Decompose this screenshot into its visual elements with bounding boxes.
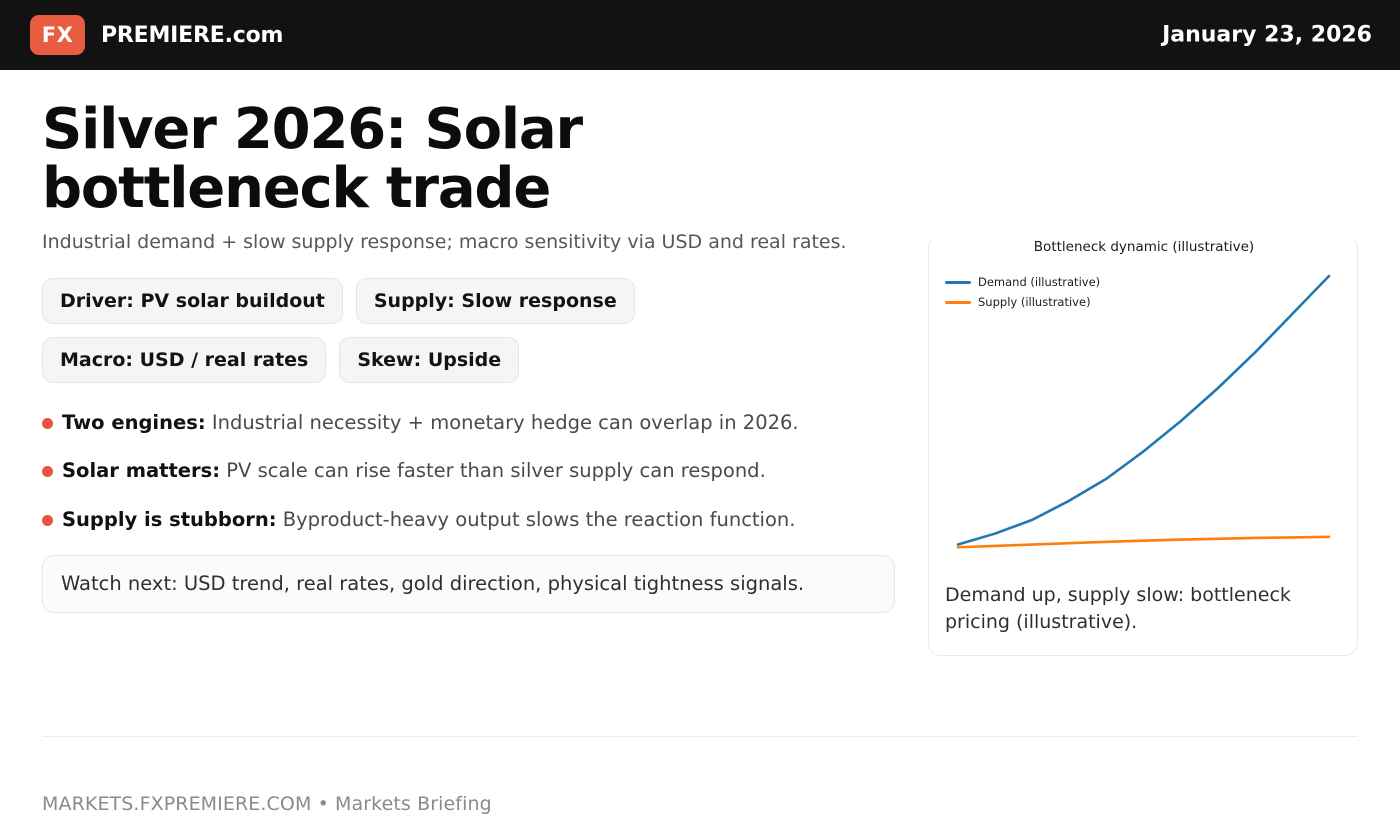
- list-item: Solar matters: PV scale can rise faster …: [42, 457, 902, 485]
- bullet-body-text: PV scale can rise faster than silver sup…: [226, 459, 766, 482]
- key-points-list: Two engines: Industrial necessity + mone…: [42, 409, 902, 534]
- brand-logo[interactable]: FX PREMIERE.com: [30, 15, 283, 55]
- tag-chip-supply[interactable]: Supply: Slow response: [356, 278, 635, 324]
- bullet-body-text: Industrial necessity + monetary hedge ca…: [212, 411, 799, 434]
- bullet-lead-label: Two engines:: [62, 411, 206, 434]
- header-date: January 23, 2026: [1162, 23, 1372, 48]
- bullet-dot-icon: [42, 466, 53, 477]
- page-subtitle: Industrial demand + slow supply response…: [42, 229, 872, 256]
- chart-plot-area: Bottleneck dynamic (illustrative) Demand…: [929, 236, 1358, 566]
- tag-chip-list: Driver: PV solar buildout Supply: Slow r…: [42, 278, 682, 383]
- tag-chip-macro[interactable]: Macro: USD / real rates: [42, 337, 326, 383]
- supply-line-path: [958, 537, 1329, 547]
- bullet-dot-icon: [42, 418, 53, 429]
- bullet-lead-label: Supply is stubborn:: [62, 508, 277, 531]
- tag-chip-driver[interactable]: Driver: PV solar buildout: [42, 278, 343, 324]
- chart-caption: Demand up, supply slow: bottleneck prici…: [929, 566, 1357, 635]
- tag-chip-skew[interactable]: Skew: Upside: [339, 337, 519, 383]
- footer-divider: [42, 736, 1358, 737]
- bullet-text: Solar matters: PV scale can rise faster …: [62, 457, 766, 485]
- page-title: Silver 2026: Solar bottleneck trade: [42, 100, 662, 219]
- bullet-body-text: Byproduct-heavy output slows the reactio…: [283, 508, 796, 531]
- fx-badge-icon: FX: [30, 15, 85, 55]
- footer-text: MARKETS.FXPREMIERE.COM • Markets Briefin…: [42, 793, 492, 815]
- watch-next-box: Watch next: USD trend, real rates, gold …: [42, 555, 895, 613]
- article-column: Silver 2026: Solar bottleneck trade Indu…: [42, 100, 902, 613]
- list-item: Two engines: Industrial necessity + mone…: [42, 409, 902, 437]
- bullet-lead-label: Solar matters:: [62, 459, 220, 482]
- top-header-bar: FX PREMIERE.com January 23, 2026: [0, 0, 1400, 70]
- briefing-page: FX PREMIERE.com January 23, 2026 Silver …: [0, 0, 1400, 840]
- demand-line-path: [958, 276, 1329, 545]
- chart-lines-svg: [929, 236, 1358, 566]
- bullet-dot-icon: [42, 515, 53, 526]
- bullet-text: Two engines: Industrial necessity + mone…: [62, 409, 799, 437]
- chart-card: Bottleneck dynamic (illustrative) Demand…: [928, 235, 1358, 656]
- brand-name-label: PREMIERE.com: [101, 23, 283, 48]
- list-item: Supply is stubborn: Byproduct-heavy outp…: [42, 506, 902, 534]
- bullet-text: Supply is stubborn: Byproduct-heavy outp…: [62, 506, 795, 534]
